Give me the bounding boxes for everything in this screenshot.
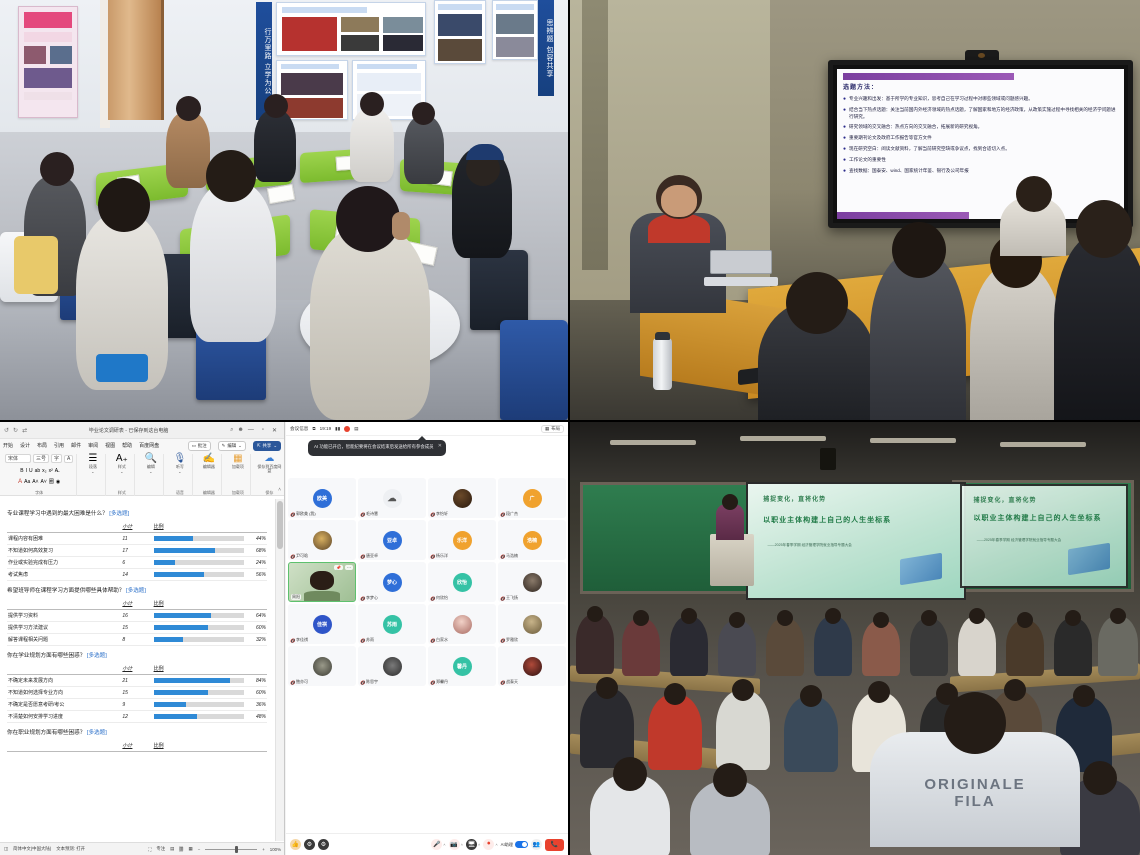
word-ribbon[interactable]: 宋体 三号 字 A B I U ab x₂ x² A̶ bbox=[0, 452, 284, 496]
audience-head bbox=[873, 612, 889, 628]
audience-head bbox=[1004, 679, 1026, 701]
participant-tile[interactable]: 欧美🔇郭欧美 (我) bbox=[288, 478, 356, 518]
collapse-ribbon-icon[interactable]: ˄ bbox=[278, 487, 281, 493]
chevron-down-icon: ⌄ bbox=[273, 443, 277, 449]
col-count: 小计 bbox=[121, 598, 152, 610]
bar-pct: 60% bbox=[247, 690, 266, 696]
participant-tile[interactable]: 苏雨🔇苏雨 bbox=[358, 604, 426, 644]
video-body bbox=[304, 591, 341, 601]
window-controls[interactable]: — ▫ ✕ bbox=[248, 427, 280, 434]
mic-off-icon: 🔇 bbox=[290, 554, 295, 559]
cloud-icon: ☁ bbox=[264, 454, 274, 464]
table-row: 不确定未来发展方向 21 84% bbox=[7, 675, 267, 687]
participant-name: 🔇唐亚卓 bbox=[360, 553, 378, 559]
mic-off-icon: 🔇 bbox=[360, 596, 365, 601]
editing-button[interactable]: ✎编辑⌄ bbox=[218, 441, 246, 451]
participant-name: 🔇李梦心 bbox=[360, 595, 378, 601]
participant-tile-active[interactable]: 📌 ⋯ 周阳 bbox=[288, 562, 356, 602]
participant-tile[interactable]: 🔇尹可晗 bbox=[288, 520, 356, 560]
bullet-icon: ● bbox=[843, 146, 846, 154]
zoom-out-icon[interactable]: − bbox=[198, 847, 201, 852]
person bbox=[350, 108, 394, 182]
audience-head bbox=[681, 608, 697, 624]
pencil-icon: ✎ bbox=[222, 443, 226, 449]
search-icon[interactable]: ⌕ bbox=[230, 427, 233, 434]
hand bbox=[392, 212, 410, 240]
signal-icon: ▮▮ bbox=[335, 426, 340, 432]
save-to-netdisk-button[interactable]: ☁ 保存到百度网盘 bbox=[257, 454, 281, 474]
chevron-up-icon[interactable]: ˄ bbox=[495, 842, 497, 847]
person-head bbox=[360, 92, 384, 116]
close-icon[interactable]: ✕ bbox=[272, 427, 277, 434]
tab-baidu-netdisk[interactable]: 百度网盘 bbox=[139, 442, 159, 449]
question-text: 希望班导师在课程学习方面提供哪些具体帮助？ bbox=[7, 588, 124, 594]
paragraph-button[interactable]: ☰ 段落 ⌄ bbox=[83, 454, 102, 475]
participant-tile[interactable]: 🔇陈思宇 bbox=[358, 646, 426, 686]
avatar: ☁ bbox=[383, 489, 402, 508]
bar-pct: 68% bbox=[247, 548, 266, 554]
ceiling-light bbox=[610, 440, 696, 445]
chevron-down-icon[interactable]: ⌄ bbox=[178, 470, 181, 474]
voice-group-label: 语音 bbox=[176, 490, 184, 496]
bar-pct: 24% bbox=[247, 560, 266, 566]
bar-fill bbox=[154, 613, 212, 618]
audience-member bbox=[910, 618, 948, 676]
cap bbox=[466, 144, 504, 160]
option-label: 不确定未来发展方向 bbox=[7, 675, 121, 687]
word-scrollbar[interactable] bbox=[275, 499, 284, 841]
audience-member bbox=[766, 618, 804, 676]
person-head bbox=[336, 186, 400, 252]
ribbon-group-styles[interactable]: A₊ 样式 ⌄ 样式 bbox=[109, 454, 135, 496]
audience-member bbox=[622, 618, 660, 676]
ceiling-light bbox=[870, 438, 956, 443]
scrollbar-thumb[interactable] bbox=[277, 501, 283, 549]
participant-tile[interactable]: 🔇李怡轩 bbox=[428, 478, 496, 518]
tab-layout[interactable]: 布局 bbox=[37, 442, 47, 449]
audience-member bbox=[576, 614, 614, 674]
bar-pct: 44% bbox=[247, 536, 266, 542]
name-text: 鲍亦可 bbox=[296, 679, 308, 685]
meeting-window[interactable]: 会议信息 ⧉ 19:19 ▮▮ ▤ ▦布局 AI 功能已开启，智能纪要将在会议结… bbox=[286, 422, 568, 855]
participant-tile[interactable]: ☁🔇毛诗慧 bbox=[358, 478, 426, 518]
name-text: 唐亚卓 bbox=[366, 553, 378, 559]
person-head bbox=[176, 96, 201, 121]
zoom-slider[interactable] bbox=[205, 849, 257, 850]
font-row-3[interactable]: A Aa A˄ A˅ 圈 ◉ bbox=[18, 478, 60, 485]
layout-switch-button[interactable]: ▦布局 bbox=[541, 425, 564, 433]
screen-subtitle: ——2025年春季学期 经济管理学院就业指导专题大会 bbox=[977, 538, 1061, 543]
projection-screen-right: 捕捉变化，直将化势 以职业主体构建上自己的人生坐标系 ——2025年春季学期 经… bbox=[960, 484, 1128, 588]
audience-head bbox=[664, 683, 686, 705]
close-icon[interactable]: ✕ bbox=[438, 443, 442, 451]
print-layout-icon[interactable]: ▥ bbox=[179, 846, 183, 852]
mic-off-icon[interactable]: 🎤 bbox=[431, 839, 442, 850]
minimize-icon[interactable]: — bbox=[248, 427, 254, 434]
mic-icon: 🎙 bbox=[174, 454, 187, 464]
record-button[interactable]: ⏺˄ bbox=[483, 839, 497, 850]
col-option bbox=[7, 663, 121, 675]
zoom-thumb[interactable] bbox=[235, 846, 238, 853]
participant-tile[interactable]: 佳祺🔇李佳祺 bbox=[288, 604, 356, 644]
wall-panel bbox=[582, 0, 608, 270]
pin-icon[interactable]: 📌 bbox=[334, 565, 343, 570]
camera-button[interactable]: 📷˄ bbox=[449, 839, 463, 850]
italic-icon[interactable]: I bbox=[26, 468, 27, 474]
avatar: 苏雨 bbox=[383, 615, 402, 634]
participant-tile[interactable]: 🔇罗雅欣 bbox=[498, 604, 566, 644]
avatar bbox=[523, 573, 542, 592]
avatar-initials: 亚卓 bbox=[387, 537, 397, 544]
option-count: 15 bbox=[121, 687, 152, 699]
projector bbox=[820, 448, 836, 470]
superscript-icon[interactable]: x² bbox=[49, 468, 53, 474]
members-icon[interactable]: 👥 bbox=[531, 839, 542, 850]
autosave-icon[interactable]: ⇄ bbox=[22, 427, 27, 434]
maximize-icon[interactable]: ▫ bbox=[262, 427, 264, 434]
audience-head bbox=[868, 681, 890, 703]
tab-view[interactable]: 视图 bbox=[105, 442, 115, 449]
meeting-info-label[interactable]: 会议信息 bbox=[290, 426, 308, 432]
participant-tile[interactable]: 🔇战泰天 bbox=[498, 646, 566, 686]
share-screen-button[interactable]: 🖥˄ bbox=[466, 839, 480, 850]
participant-tile[interactable]: 🔇王飞扬 bbox=[498, 562, 566, 602]
screen-laptop-graphic bbox=[900, 553, 942, 586]
avatar: 浩楠 bbox=[523, 531, 542, 550]
bag bbox=[14, 236, 58, 294]
tab-help[interactable]: 帮助 bbox=[122, 442, 132, 449]
audience-head bbox=[713, 763, 747, 797]
editing-find-button[interactable]: 🔍 编辑 ⌄ bbox=[141, 454, 160, 475]
person-head bbox=[98, 178, 150, 232]
audience-head bbox=[1065, 610, 1081, 626]
word-ribbon-tabs[interactable]: 开始 设计 布局 引用 邮件 审阅 视图 帮助 百度网盘 ▭批注 ✎编辑⌄ ⇱共… bbox=[0, 439, 284, 452]
audience-head bbox=[777, 610, 793, 626]
editor-icon: ✍ bbox=[203, 454, 215, 464]
more-icon[interactable]: ⋯ bbox=[345, 565, 353, 570]
option-count: 15 bbox=[121, 622, 152, 634]
font-family-select[interactable]: 宋体 bbox=[5, 454, 31, 463]
mic-off-icon: 🔇 bbox=[360, 512, 365, 517]
addins-group-label: 加载项 bbox=[232, 490, 244, 496]
laptop-base bbox=[704, 277, 778, 286]
comments-button[interactable]: ▭批注 bbox=[188, 441, 211, 451]
photo-collage: 行万里路 立学为公 思辨题 包容共享 bbox=[0, 0, 1140, 855]
mic-button[interactable]: 🎤˄ bbox=[431, 839, 445, 850]
read-mode-icon[interactable]: ▤ bbox=[170, 846, 174, 852]
editing-label: 编辑 bbox=[227, 443, 236, 449]
participant-tile[interactable]: 亚卓🔇唐亚卓 bbox=[358, 520, 426, 560]
mic-off-icon: 🔇 bbox=[430, 554, 435, 559]
ribbon-group-editor[interactable]: ✍ 编辑器 编辑器 bbox=[196, 454, 222, 496]
zoom-level[interactable]: 100% bbox=[270, 847, 281, 852]
participant-grid: 欧美🔇郭欧美 (我) ☁🔇毛诗慧 🔇李怡轩 广🔇段广杰 🔇尹可晗 亚卓🔇唐亚卓 … bbox=[286, 436, 568, 833]
bullet-icon: ● bbox=[843, 157, 846, 165]
survey-question: 希望班导师在课程学习方面提供哪些具体帮助？ [多选题] bbox=[7, 586, 267, 594]
zoom-in-icon[interactable]: + bbox=[262, 847, 265, 852]
ai-assistant-toggle[interactable]: AI助理 bbox=[501, 841, 528, 848]
hall-speaker-head bbox=[722, 494, 738, 510]
ribbon-group-addins[interactable]: ▦ 加载项 加载项 bbox=[225, 454, 251, 496]
table-header-row: 小计 比例 bbox=[7, 598, 267, 610]
character-border-icon[interactable]: A bbox=[64, 455, 73, 463]
bar-pct: 48% bbox=[247, 714, 266, 720]
strikethrough-icon[interactable]: ab bbox=[35, 468, 41, 474]
participant-name: 🔇陈思宇 bbox=[360, 679, 378, 685]
tab-review[interactable]: 审阅 bbox=[88, 442, 98, 449]
comments-label: 批注 bbox=[198, 443, 207, 449]
language-label[interactable]: 简体中文(中国大陆) bbox=[13, 846, 51, 852]
tab-design[interactable]: 设计 bbox=[20, 442, 30, 449]
avatar-initials: 馨丹 bbox=[457, 663, 467, 670]
bar-fill bbox=[154, 678, 230, 683]
mic-off-icon: 🔇 bbox=[360, 638, 365, 643]
participant-tile[interactable]: 广🔇段广杰 bbox=[498, 478, 566, 518]
bar-pct: 56% bbox=[247, 572, 266, 578]
toggle-switch[interactable] bbox=[515, 841, 528, 848]
col-ratio: 比例 bbox=[153, 598, 267, 610]
presenter bbox=[630, 175, 726, 310]
text-highlight-icon[interactable]: A bbox=[18, 479, 22, 485]
reaction-icon[interactable]: 👍 bbox=[290, 839, 301, 850]
share-icon: ⇱ bbox=[257, 443, 261, 449]
styles-button[interactable]: A₊ 样式 ⌄ bbox=[112, 454, 131, 475]
chevron-up-icon[interactable]: ˄ bbox=[478, 842, 480, 847]
participant-name: 🔇何欣怡 bbox=[430, 595, 448, 601]
participant-tile[interactable]: 馨丹🔇郑馨丹 bbox=[428, 646, 496, 686]
participant-name: 🔇郭欧美 (我) bbox=[290, 511, 316, 517]
audience-head bbox=[1076, 200, 1132, 258]
bar-track bbox=[154, 536, 244, 541]
avatar: 乐洋 bbox=[453, 531, 472, 550]
audience-member bbox=[814, 616, 852, 676]
screen-laptop-graphic bbox=[1068, 543, 1110, 576]
camera-off-icon[interactable]: 📷 bbox=[449, 839, 460, 850]
audience-member bbox=[862, 620, 900, 676]
chevron-down-icon[interactable]: ⌄ bbox=[91, 470, 94, 474]
participant-tile[interactable]: 🔇白家水 bbox=[428, 604, 496, 644]
text-prediction-label[interactable]: 文本预测: 打开 bbox=[56, 846, 85, 852]
avatar-initials: 苏雨 bbox=[387, 621, 397, 628]
bar-fill bbox=[154, 560, 176, 565]
ai-notice-toast: AI 功能已开启，智能纪要将在会议结束后发送给所有参会成员 ✕ bbox=[308, 440, 446, 456]
audience-head bbox=[1073, 685, 1095, 707]
chevron-up-icon[interactable]: ˄ bbox=[443, 842, 445, 847]
poster-line bbox=[24, 92, 72, 100]
mic-off-icon: 🔇 bbox=[500, 638, 505, 643]
name-text: 马浩楠 bbox=[506, 553, 518, 559]
save-group-label: 保存 bbox=[265, 490, 273, 496]
option-label: 解答课程相关问题 bbox=[7, 634, 121, 646]
audience-head bbox=[786, 272, 848, 334]
bar-pct: 84% bbox=[247, 678, 266, 684]
bullet-icon: ● bbox=[843, 135, 846, 143]
option-ratio: 84% bbox=[153, 675, 267, 687]
subscript-icon[interactable]: x₂ bbox=[42, 468, 46, 474]
addins-button[interactable]: ▦ 加载项 bbox=[228, 454, 247, 469]
ribbon-group-editing[interactable]: 🔍 编辑 ⌄ bbox=[138, 454, 164, 496]
bar-fill bbox=[154, 637, 183, 642]
meeting-toolbar[interactable]: 👍 ⚙ ⚙ 🎤˄ 📷˄ 🖥˄ ⏺˄ AI助理 👥 📞 bbox=[286, 833, 568, 855]
tab-references[interactable]: 引用 bbox=[54, 442, 64, 449]
participant-name: 🔇杨乐洋 bbox=[430, 553, 448, 559]
focus-label[interactable]: 专注 bbox=[156, 846, 165, 852]
slide-bullet: ●现在研究空白：阅读文献资料，了解当前研究空缺或争议点，找到合适切入点。 bbox=[843, 146, 1118, 154]
bullet-text: 工作论文的重要性 bbox=[849, 157, 886, 165]
focus-mode-button[interactable]: ⛶ bbox=[148, 847, 151, 852]
col-count: 小计 bbox=[121, 521, 152, 533]
mic-off-icon: 🔇 bbox=[430, 512, 435, 517]
slide-title: 选题方法： bbox=[843, 84, 1118, 93]
record-dot-icon bbox=[344, 426, 350, 432]
editor-caption: 编辑器 bbox=[203, 465, 215, 469]
hoodie-text: ORIGINALE FILA bbox=[923, 776, 1028, 811]
bag-blue bbox=[96, 354, 148, 382]
col-count: 小计 bbox=[121, 740, 152, 752]
col-ratio: 比例 bbox=[153, 521, 267, 533]
tile-actions[interactable]: 📌 ⋯ bbox=[334, 565, 353, 570]
option-ratio: 56% bbox=[153, 569, 267, 581]
option-ratio: 48% bbox=[153, 711, 267, 723]
dictate-button[interactable]: 🎙 听写 ⌄ bbox=[170, 454, 189, 475]
slide-bullet: ●工作论文的重要性 bbox=[843, 157, 1118, 165]
audience-head bbox=[1110, 608, 1126, 624]
accessibility-icon[interactable]: ◫ bbox=[4, 846, 8, 852]
option-ratio: 36% bbox=[153, 699, 267, 711]
option-label: 不知道如何高效复习 bbox=[7, 545, 121, 557]
audience-head bbox=[1017, 612, 1033, 628]
audience-head bbox=[969, 608, 985, 624]
audience-head bbox=[800, 685, 822, 707]
screen-share-icon[interactable]: 🖥 bbox=[466, 839, 477, 850]
option-count: 14 bbox=[121, 569, 152, 581]
option-count: 17 bbox=[121, 545, 152, 557]
ribbon-group-font[interactable]: 宋体 三号 字 A B I U ab x₂ x² A̶ bbox=[2, 454, 77, 496]
tab-mailings[interactable]: 邮件 bbox=[71, 442, 81, 449]
chair bbox=[470, 250, 528, 330]
bullet-icon: ● bbox=[843, 124, 846, 132]
addin-icon: ▦ bbox=[233, 454, 242, 464]
name-text: 李怡轩 bbox=[436, 511, 448, 517]
ribbon-group-voice[interactable]: 🎙 听写 ⌄ 语音 bbox=[167, 454, 193, 496]
col-option bbox=[7, 521, 121, 533]
participant-tile[interactable]: 欣怡🔇何欣怡 bbox=[428, 562, 496, 602]
participant-tile[interactable]: 🔇鲍亦可 bbox=[288, 646, 356, 686]
survey-question: 你在职业规划方面有哪些困惑？ [多选题] bbox=[7, 728, 267, 736]
account-icon[interactable]: ☻ bbox=[238, 427, 244, 433]
screen-title-1: 捕捉变化，直将化势 bbox=[763, 494, 826, 503]
word-filename: 毕业论文调研表 - 已保存到这台电脑 bbox=[31, 427, 226, 434]
paragraph-group-label bbox=[92, 491, 93, 496]
tab-start[interactable]: 开始 bbox=[3, 442, 13, 449]
phonetic-guide-icon[interactable]: 字 bbox=[51, 454, 62, 463]
photo-lecture-hall: 捕捉变化，直将化势 以职业主体构建上自己的人生坐标系 ——2025年春季学期 经… bbox=[570, 422, 1140, 855]
avatar-initials: 梦心 bbox=[387, 579, 397, 586]
web-layout-icon[interactable]: ▦ bbox=[188, 846, 192, 852]
mic-off-icon: 🔇 bbox=[500, 596, 505, 601]
bullet-text: 研究领域的交叉融合：热点方向的交叉融合，拓展新的研究视角。 bbox=[849, 124, 982, 132]
bold-icon[interactable]: B bbox=[20, 468, 23, 474]
photo-classroom-workshop: 行万里路 立学为公 思辨题 包容共享 bbox=[0, 0, 568, 420]
avatar-initials: 乐洋 bbox=[457, 537, 467, 544]
grow-font-icon[interactable]: A˄ bbox=[32, 479, 38, 485]
participant-tile[interactable]: 乐洋🔇杨乐洋 bbox=[428, 520, 496, 560]
display-board-1 bbox=[276, 2, 426, 56]
participant-tile[interactable]: 浩楠🔇马浩楠 bbox=[498, 520, 566, 560]
share-button[interactable]: ⇱共享⌄ bbox=[253, 441, 281, 451]
save-caption: 保存到百度网盘 bbox=[257, 465, 281, 474]
font-row-1[interactable]: 宋体 三号 字 A bbox=[5, 454, 73, 463]
font-row-2[interactable]: B I U ab x₂ x² A̶ bbox=[20, 468, 58, 474]
audience-head bbox=[825, 608, 841, 624]
avatar: 亚卓 bbox=[383, 531, 402, 550]
record-icon[interactable]: ⏺ bbox=[483, 839, 494, 850]
undo-icon[interactable]: ↺ bbox=[4, 427, 9, 434]
presenter-laptop bbox=[710, 250, 772, 286]
chevron-down-icon[interactable]: ⌄ bbox=[149, 470, 152, 474]
grid-icon: ▦ bbox=[545, 426, 549, 432]
mic-off-icon: 🔇 bbox=[360, 554, 365, 559]
copy-icon[interactable]: ⧉ bbox=[312, 426, 315, 431]
clear-format-icon[interactable]: A̶ bbox=[55, 468, 58, 474]
mic-off-icon: 🔇 bbox=[430, 638, 435, 643]
avatar: 馨丹 bbox=[453, 657, 472, 676]
name-text: 李佳祺 bbox=[296, 637, 308, 643]
bar-track bbox=[154, 548, 244, 553]
enclose-character-icon[interactable]: 圈 bbox=[49, 478, 54, 485]
table-row: 解答课程相关问题 8 32% bbox=[7, 634, 267, 646]
avatar: 佳祺 bbox=[313, 615, 332, 634]
table-row: 考试焦虑 14 56% bbox=[7, 569, 267, 581]
ai-label: AI助理 bbox=[501, 842, 513, 848]
underline-icon[interactable]: U bbox=[29, 468, 33, 474]
settings-icon[interactable]: ⚙ bbox=[304, 839, 315, 850]
participant-name: 🔇鲍亦可 bbox=[290, 679, 308, 685]
participant-name: 🔇李怡轩 bbox=[430, 511, 448, 517]
presentation-display: 选题方法： ●专业兴趣和出发：基于所学的专业知识，思考自己在学习过程中对哪些领域… bbox=[828, 60, 1133, 228]
mic-off-icon: 🔇 bbox=[500, 512, 505, 517]
chevron-up-icon[interactable]: ˄ bbox=[461, 842, 463, 847]
slide-bullet: ●专业兴趣和出发：基于所学的专业知识，思考自己在学习过程中对哪些领域或问题感兴趣… bbox=[843, 96, 1118, 104]
chevron-down-icon: ⌄ bbox=[238, 443, 242, 449]
ribbon-group-paragraph[interactable]: ☰ 段落 ⌄ bbox=[80, 454, 106, 496]
avatar bbox=[523, 615, 542, 634]
bullet-text: 重要期刊论文及政府工作报告等官方文件 bbox=[849, 135, 932, 143]
foreground-head bbox=[944, 692, 1006, 754]
layout-icon[interactable]: ▤ bbox=[354, 426, 358, 432]
editor-button[interactable]: ✍ 编辑器 bbox=[199, 454, 218, 469]
styles-icon: A₊ bbox=[116, 454, 128, 464]
font-size-select[interactable]: 三号 bbox=[33, 454, 49, 463]
participant-tile[interactable]: 梦心🔇李梦心 bbox=[358, 562, 426, 602]
name-text: 李梦心 bbox=[366, 595, 378, 601]
apps-icon[interactable]: ⚙ bbox=[318, 839, 329, 850]
screen-subtitle: ——2025年春季学期 经济管理学院就业指导专题大会 bbox=[767, 543, 851, 548]
audience-member bbox=[670, 616, 708, 676]
word-document-page[interactable]: 专业课程学习中遇到的最大困难是什么？ [多选题] 小计 比例 课程内容有困难 1… bbox=[0, 499, 274, 841]
font-color-icon[interactable]: Aa bbox=[24, 479, 30, 485]
chevron-down-icon[interactable]: ⌄ bbox=[120, 470, 123, 474]
audience-member-front bbox=[590, 774, 670, 855]
redo-icon[interactable]: ↻ bbox=[13, 427, 18, 434]
word-window[interactable]: ↺ ↻ ⇄ 毕业论文调研表 - 已保存到这台电脑 ⌕ ☻ — ▫ ✕ 开始 设计… bbox=[0, 422, 285, 855]
word-title-bar: ↺ ↻ ⇄ 毕业论文调研表 - 已保存到这台电脑 ⌕ ☻ — ▫ ✕ bbox=[0, 422, 284, 439]
shrink-font-icon[interactable]: A˅ bbox=[41, 479, 47, 485]
question-text: 你在学业规划方面有哪些困惑？ bbox=[7, 653, 85, 659]
text-effects-icon[interactable]: ◉ bbox=[56, 479, 60, 485]
avatar bbox=[313, 531, 332, 550]
end-call-button[interactable]: 📞 bbox=[545, 839, 564, 851]
